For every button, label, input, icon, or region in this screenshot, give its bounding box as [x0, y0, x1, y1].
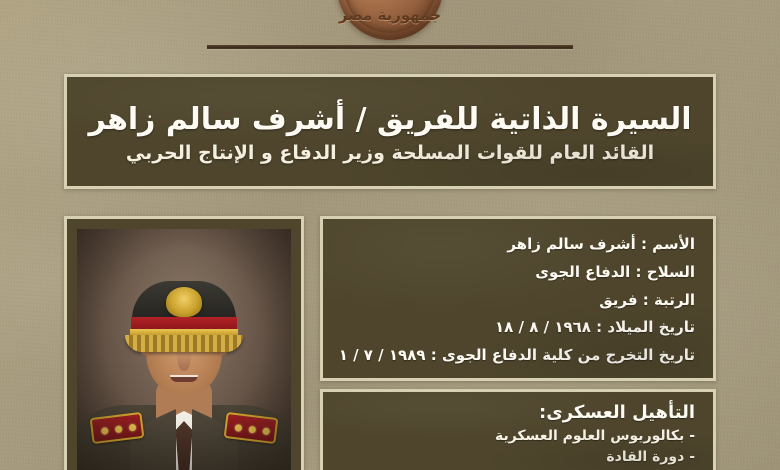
header-divider-rule — [207, 45, 573, 49]
info-row-branch: السلاح : الدفاع الجوى — [335, 259, 695, 287]
cv-infographic-page: جمهورية مصر السيرة الذاتية للفريق / أشرف… — [0, 0, 780, 470]
nose — [178, 351, 191, 371]
military-cap-badge-icon — [166, 287, 202, 317]
info-row-birth-date: تاريخ الميلاد : ١٩٦٨ / ٨ / ١٨ — [335, 314, 695, 342]
info-row-graduation-date: تاريخ التخرج من كلية الدفاع الجوى : ١٩٨٩… — [335, 342, 695, 370]
title-panel: السيرة الذاتية للفريق / أشرف سالم زاهر ا… — [64, 74, 716, 189]
info-row-rank: الرتبة : فريق — [335, 287, 695, 315]
info-row-name: الأسم : أشرف سالم زاهر — [335, 231, 695, 259]
page-subtitle: القائد العام للقوات المسلحة وزير الدفاع … — [126, 142, 654, 166]
military-qualification-panel: التأهيل العسكرى: - بكالوريوس العلوم العس… — [320, 389, 716, 470]
personal-info-panel: الأسم : أشرف سالم زاهر السلاح : الدفاع ا… — [320, 216, 716, 381]
qualification-heading: التأهيل العسكرى: — [335, 400, 695, 426]
seal-label: جمهورية مصر — [337, 6, 443, 24]
necktie — [176, 421, 193, 470]
mouth — [170, 375, 198, 382]
qualification-item: - بكالوريوس العلوم العسكرية — [335, 426, 695, 447]
portrait-photo — [77, 229, 291, 470]
egypt-republic-seal-icon: جمهورية مصر — [337, 0, 443, 40]
portrait-photo-panel — [64, 216, 304, 470]
military-cap-visor — [125, 335, 243, 352]
qualification-item: - دورة القادة — [335, 447, 695, 468]
page-title: السيرة الذاتية للفريق / أشرف سالم زاهر — [88, 102, 691, 138]
